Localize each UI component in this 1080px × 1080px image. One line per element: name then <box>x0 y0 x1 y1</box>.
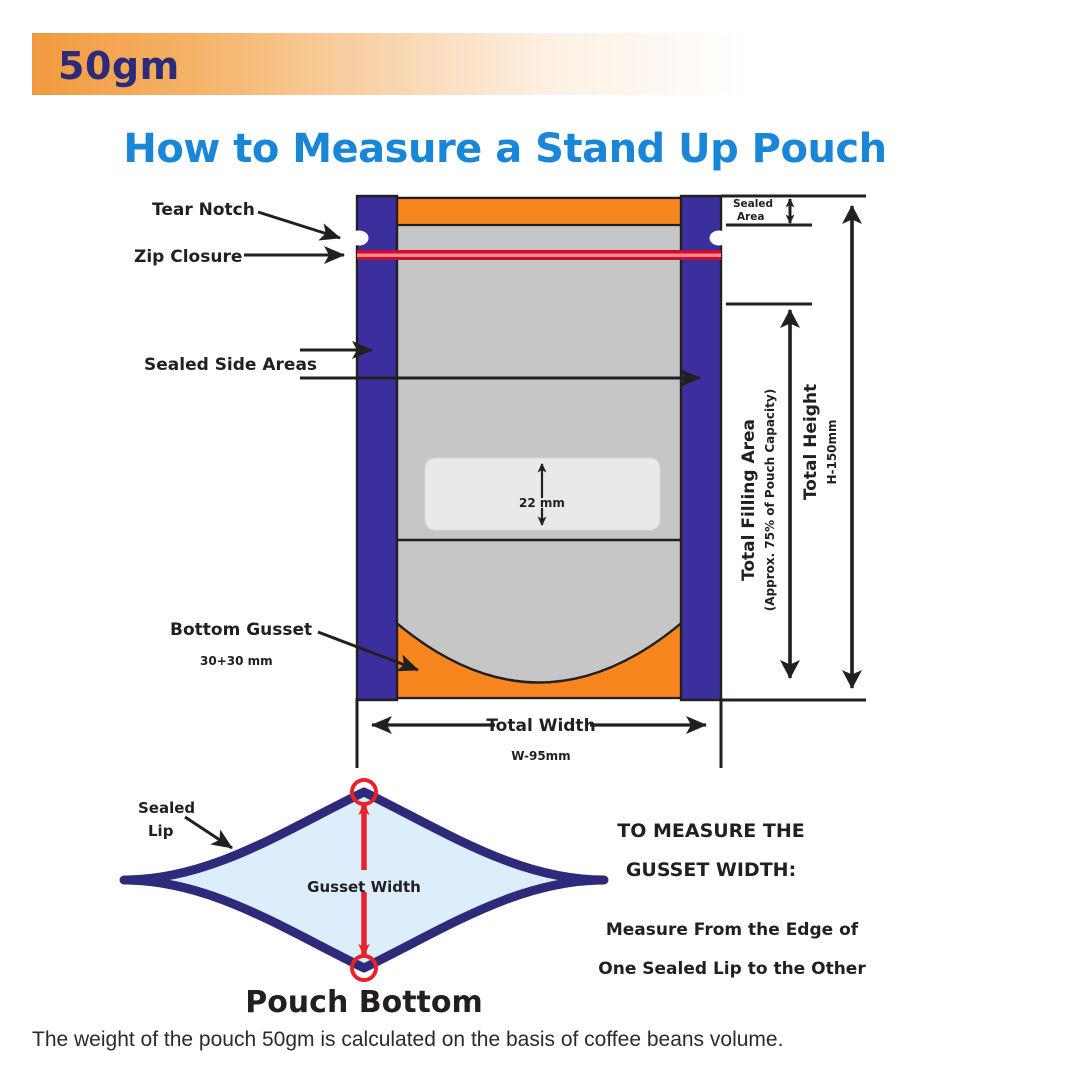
label-bottom-gusset: Bottom Gusset <box>170 620 312 640</box>
right-side-seal <box>681 196 721 700</box>
label-total-filling-area-sub: (Approx. 75% of Pouch Capacity) <box>763 389 777 611</box>
pouch-diagram: 22 mm Tear Notch Zip Closure Sealed Side… <box>0 180 1080 1080</box>
label-total-filling-area: Total Filling Area <box>739 419 759 581</box>
leader-tear-notch <box>258 212 340 238</box>
instruction-line-3: Measure From the Edge of <box>606 920 859 940</box>
label-sealed-lip-line2: Lip <box>148 822 174 840</box>
right-dimensions: Sealed Area Total Filling Area (Approx. … <box>721 196 866 700</box>
label-pouch-bottom: Pouch Bottom <box>245 985 483 1020</box>
dim-total-width: Total Width W-95mm <box>357 698 721 768</box>
footer-note: The weight of the pouch 50gm is calculat… <box>32 1028 1042 1052</box>
dim-total-height: Total Height H-150mm <box>801 206 852 688</box>
instruction-line-2: GUSSET WIDTH: <box>626 859 796 881</box>
label-total-height: Total Height <box>801 384 821 500</box>
inner-patch-value: 22 mm <box>519 496 565 510</box>
pouch-top-strip <box>395 198 683 225</box>
label-sealed-side-areas: Sealed Side Areas <box>144 355 317 375</box>
label-tear-notch: Tear Notch <box>152 200 255 220</box>
instructions-block: TO MEASURE THE GUSSET WIDTH: Measure Fro… <box>598 820 866 979</box>
instruction-line-4: One Sealed Lip to the Other <box>598 959 866 979</box>
label-zip-closure: Zip Closure <box>134 247 242 267</box>
tear-notch-right <box>710 231 728 245</box>
label-sealed-area-line2: Area <box>737 211 765 223</box>
zip-closure-line <box>357 250 721 260</box>
tear-notch-left <box>350 231 368 245</box>
label-sealed-area-line1: Sealed <box>733 198 773 210</box>
infographic-canvas: 50gm How to Measure a Stand Up Pouch <box>0 0 1080 1080</box>
label-total-width-value: W-95mm <box>511 749 570 763</box>
left-side-seal <box>357 196 397 700</box>
label-bottom-gusset-value: 30+30 mm <box>200 654 273 668</box>
label-sealed-lip-line1: Sealed <box>138 799 195 817</box>
label-total-width: Total Width <box>486 716 595 736</box>
dim-total-filling-area: Total Filling Area (Approx. 75% of Pouch… <box>739 310 790 678</box>
instruction-line-1: TO MEASURE THE <box>617 820 805 842</box>
pouch-front-view: 22 mm <box>350 196 728 700</box>
inner-measure-patch: 22 mm <box>425 458 660 530</box>
label-gusset-width: Gusset Width <box>307 878 421 896</box>
label-total-height-value: H-150mm <box>825 419 839 484</box>
bottom-gusset-region <box>393 540 685 700</box>
page-title: How to Measure a Stand Up Pouch <box>0 126 1010 172</box>
pouch-bottom-cross-section: Sealed Lip Gusset Width Pouch Bottom <box>124 780 604 1020</box>
dim-sealed-area: Sealed Area <box>733 198 790 223</box>
leader-sealed-lip <box>185 817 232 848</box>
weight-label: 50gm <box>58 44 180 88</box>
